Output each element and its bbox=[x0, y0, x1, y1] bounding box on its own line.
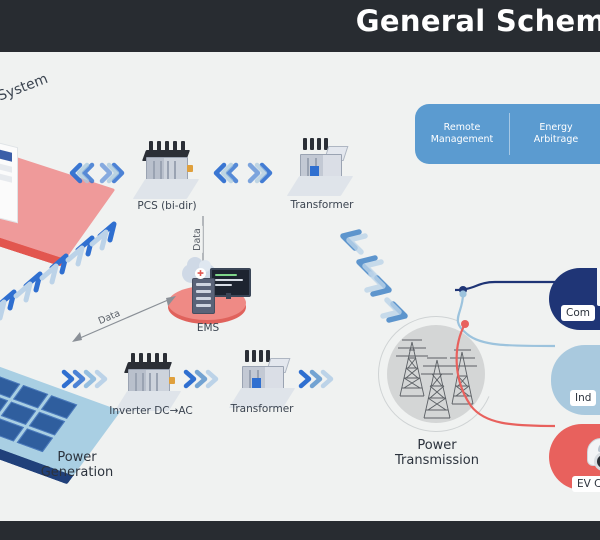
feature-line1: Remote bbox=[431, 122, 494, 134]
transformer-top-label: Transformer bbox=[272, 199, 372, 211]
inverter-label: Inverter DC→AC bbox=[96, 405, 206, 417]
feature-line2: Management bbox=[431, 134, 494, 146]
ems-icon: ✚ bbox=[168, 262, 248, 324]
feature-banner: Remote Management Energy Arbitrage P bbox=[415, 104, 600, 164]
feature-tab-remote-management[interactable]: Remote Management bbox=[415, 104, 509, 164]
generation-line2: Generation bbox=[22, 465, 132, 480]
ev-car-icon bbox=[587, 438, 600, 466]
chevrons-generation-storage-diagonal bbox=[0, 218, 132, 338]
chevrons-storage-pcs-bidirectional bbox=[68, 160, 132, 186]
pcs-icon bbox=[136, 143, 198, 201]
chevrons-transformer-transmission bbox=[297, 368, 343, 390]
chevrons-pcs-transformer-bidirectional bbox=[210, 160, 280, 186]
footer-bar bbox=[0, 521, 600, 540]
data-label: Data bbox=[192, 226, 203, 253]
server-icon bbox=[192, 278, 215, 314]
pcs-label: PCS (bi-dir) bbox=[117, 200, 217, 212]
transformer-top-icon bbox=[290, 140, 352, 198]
transformer-bottom-label: Transformer bbox=[212, 403, 312, 415]
consumer-commercial-label: Com bbox=[561, 305, 595, 321]
consumer-ev-charging-label: EV C bbox=[572, 476, 600, 492]
transformer-bottom-icon bbox=[232, 352, 294, 410]
header-bar: General Schem bbox=[0, 0, 600, 52]
diagram-canvas: General Schem Remote Management Energy A… bbox=[0, 0, 600, 540]
chevrons-generation-inverter bbox=[60, 368, 112, 390]
feature-line2: Arbitrage bbox=[534, 134, 578, 146]
ems-label: EMS bbox=[173, 322, 243, 334]
page-title: General Schem bbox=[356, 4, 600, 38]
power-generation-label: Power Generation bbox=[22, 450, 132, 480]
chevrons-inverter-transformer bbox=[182, 368, 228, 390]
chevrons-transformer-transmission-diagonal bbox=[335, 218, 415, 328]
generation-line1: Power bbox=[22, 450, 132, 465]
feature-tab-energy-arbitrage[interactable]: Energy Arbitrage bbox=[509, 104, 600, 164]
feature-line1: Energy bbox=[534, 122, 578, 134]
battery-cabinet-icon bbox=[0, 133, 18, 223]
consumer-industrial-label: Ind bbox=[570, 390, 596, 406]
